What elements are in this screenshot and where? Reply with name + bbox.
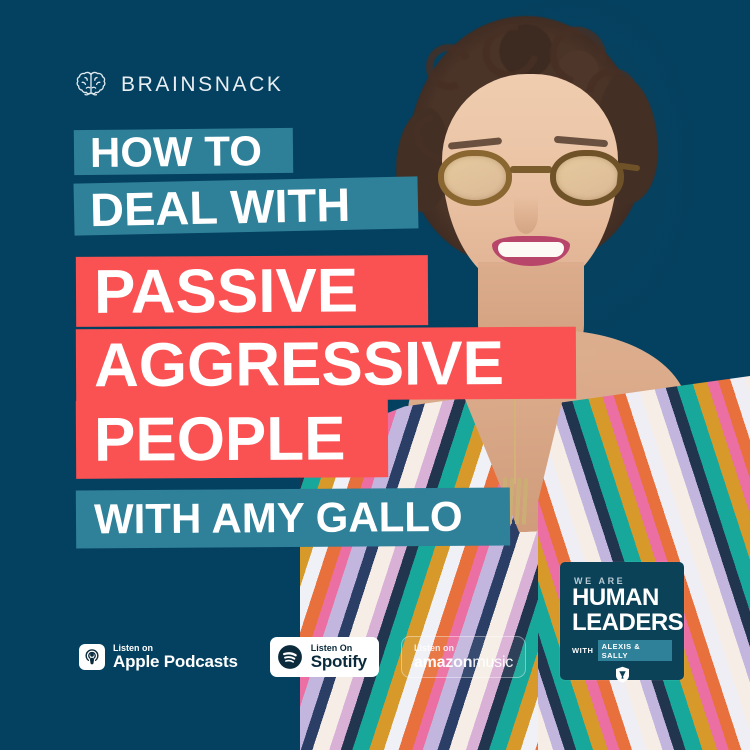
listen-badges: Listen on Apple Podcasts Listen On Spoti… [72,636,526,678]
amazon-badge-label: amazonmusic [414,654,513,672]
logo-with-label: WITH [572,646,594,655]
apple-podcasts-badge[interactable]: Listen on Apple Podcasts [72,637,248,677]
spotify-badge-label: Spotify [311,653,367,670]
brain-icon [74,70,108,100]
title-line-aggressive: AGGRESSIVE [76,327,576,402]
lens-right [550,150,624,206]
amazon-word: amazon [414,654,472,671]
lens-left [438,150,512,206]
apple-podcasts-icon [79,644,105,670]
logo-leaders: LEADERS [572,611,683,635]
spotify-badge[interactable]: Listen On Spotify [270,637,379,677]
podcast-cover-art: BRAINSNACK HOW TO DEAL WITH PASSIVE AGGR… [0,0,750,750]
shield-crest-icon [615,666,630,688]
title-line-passive: PASSIVE [76,255,428,327]
we-are-human-leaders-logo[interactable]: WE ARE HUMAN LEADERS WITH ALEXIS & SALLY [560,562,684,680]
title-line-deal-with: DEAL WITH [73,176,418,235]
title-line-how-to: HOW TO [74,128,293,175]
amazon-music-badge[interactable]: Listen on amazonmusic [401,636,526,678]
title-line-with-host: WITH AMY GALLO [76,487,510,548]
glasses-bridge [510,166,552,173]
striped-blouse-right [538,372,750,750]
brand-lockup: BRAINSNACK [74,70,284,100]
necklace-chain [514,398,516,484]
brand-name: BRAINSNACK [121,73,284,97]
logo-hosts: ALEXIS & SALLY [598,640,672,661]
apple-badge-label: Apple Podcasts [113,653,238,670]
logo-human: HUMAN [572,586,659,610]
title-line-people: PEOPLE [76,399,388,479]
amazon-badge-small-label: Listen on [414,643,454,653]
teeth [498,242,564,257]
spotify-icon [277,644,303,670]
nose [514,196,538,234]
music-word: music [472,654,513,671]
